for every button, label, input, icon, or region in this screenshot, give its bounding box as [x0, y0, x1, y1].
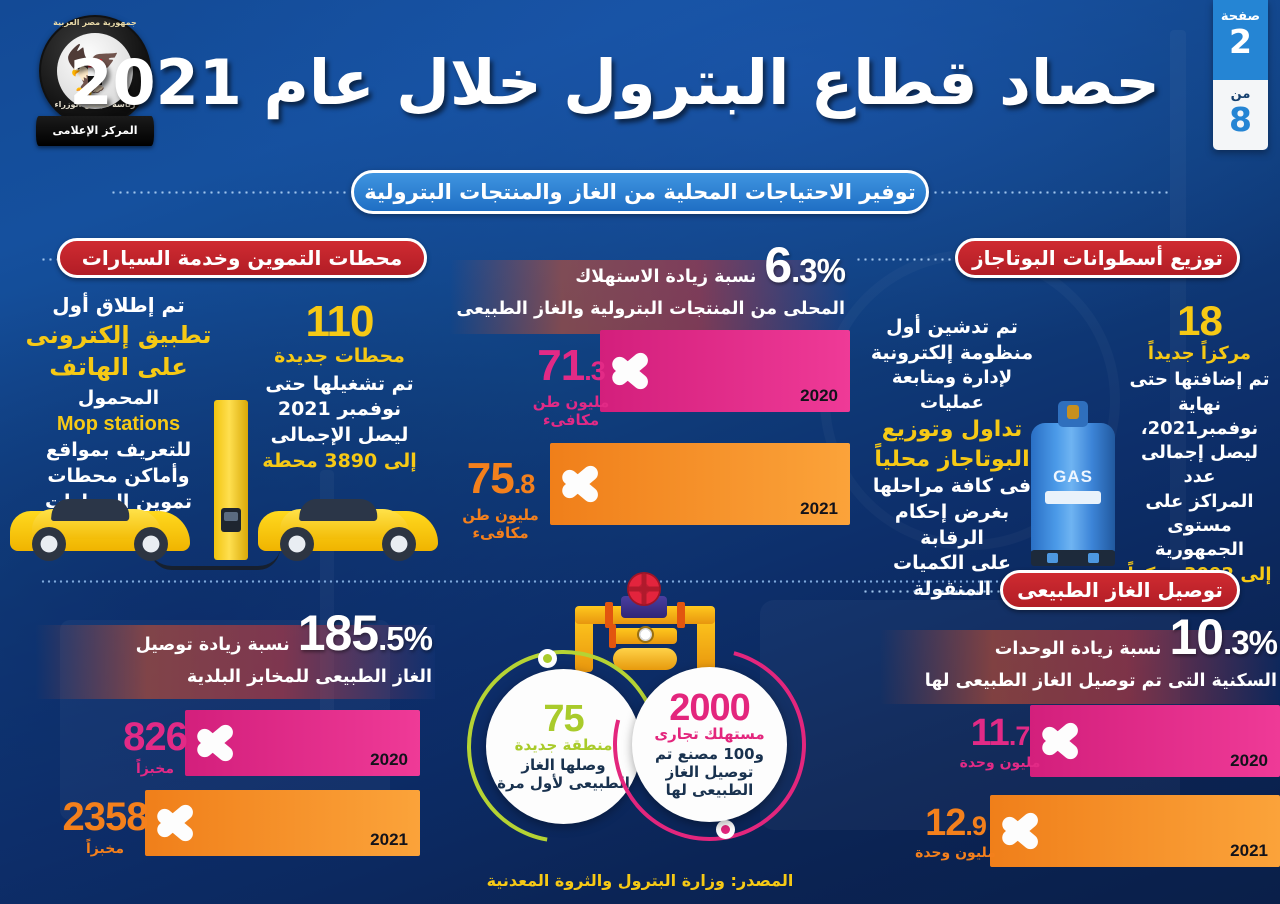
car-icon-left	[10, 495, 190, 561]
cylinder-valve	[1067, 405, 1079, 419]
gas-value-number-2021: 12.9	[903, 805, 1008, 844]
bakeries-bar-year-2021: 2021	[370, 830, 408, 850]
consumption-unit-2020: مليون طن مكافىء	[516, 393, 626, 429]
circle-sub-0: منطقة جديدة	[515, 736, 613, 754]
page-title: حصاد قطاع البترول خلال عام 2021	[180, 48, 1160, 117]
consumption-bar-2020: 2020	[600, 330, 850, 412]
consumption-percent-dec: .3	[791, 252, 817, 289]
infographic-canvas: 🦅 جمهورية مصر العربية رئاسة مجلس الوزراء…	[0, 0, 1280, 904]
bakeries-bar-2020: 2020	[185, 710, 420, 776]
car-window	[51, 499, 131, 521]
circle-desc-1: و100 مصنع تم توصيل الغاز الطبيعى لها	[643, 745, 776, 800]
val-int: 75	[467, 454, 514, 503]
val-int: 12	[925, 802, 965, 844]
circle-number-0: 75	[543, 701, 583, 737]
consumption-percent-sign: %	[817, 252, 845, 289]
gas-text-l2: السكنية التى تم توصيل الغاز الطبيعى لها	[885, 670, 1277, 694]
consumption-value-number-2021: 75.8	[443, 458, 558, 505]
bakeries-value-2021: 2358 مخبزاً	[45, 798, 165, 857]
banner-dots-right	[932, 191, 1170, 194]
butagas-left-l2: منظومة إلكترونية	[862, 341, 1042, 367]
gas-bar-2020: 2020	[1030, 705, 1280, 777]
consumption-percent-int: 6	[764, 237, 791, 293]
source-footer: المصدر: وزارة البترول والثروة المعدنية	[0, 871, 1280, 890]
bakeries-text-l1: نسبة زيادة توصيل	[136, 634, 290, 664]
consumption-bar-year-2020: 2020	[800, 386, 838, 406]
stations-left-l5: Mop stations	[16, 411, 221, 438]
gas-percent-dec: .3	[1223, 624, 1249, 661]
bakeries-value-2020: 826 مخبزاً	[100, 718, 210, 777]
gas-unit-2020: مليون وحدة	[950, 755, 1050, 771]
circle-stat-commercial-consumers: 2000 مستهلك تجارى و100 مصنع تم توصيل الغ…	[632, 667, 787, 822]
val-dec: .3	[584, 356, 605, 386]
butagas-right-l3: ليصل إجمالى عدد	[1122, 441, 1277, 490]
stations-right-l2: نوفمبر 2021	[252, 397, 427, 423]
pump-screen	[221, 508, 241, 532]
consumption-percent: 6.3%	[764, 240, 845, 296]
section-pill-stations: محطات التموين وخدمة السيارات	[57, 238, 427, 278]
page-total: 8	[1213, 102, 1268, 138]
val-dec: .9	[965, 811, 986, 841]
bakeries-bar-year-2020: 2020	[370, 750, 408, 770]
page-badge-top: صفحة 2	[1213, 0, 1268, 80]
bakeries-percent-int: 185	[298, 605, 378, 661]
butagas-right-l2: نهاية نوفمبر2021،	[1122, 393, 1277, 442]
arc-dot-pink	[716, 820, 735, 839]
page-badge: صفحة 2 من 8	[1213, 0, 1268, 150]
stations-right-l3: ليصل الإجمالى	[252, 423, 427, 449]
header: 🦅 جمهورية مصر العربية رئاسة مجلس الوزراء…	[0, 0, 1280, 165]
gas-pipe-icon	[565, 586, 725, 678]
banner-dots-left	[110, 191, 348, 194]
val-dec: .8	[514, 469, 535, 499]
val-dec: .7	[1009, 721, 1030, 751]
gas-bar-year-2021: 2021	[1230, 841, 1268, 861]
consumption-bar-year-2021: 2021	[800, 499, 838, 519]
stations-left-l7: وأماكن محطات	[16, 464, 221, 490]
stations-count-number: 110	[252, 300, 427, 344]
stations-left-l1: تم إطلاق أول	[16, 292, 221, 319]
butagas-left-text: تم تدشين أول منظومة إلكترونية لإدارة ومت…	[862, 315, 1042, 602]
gas-value-number-2020: 11.7	[950, 715, 1050, 754]
subtitle-banner: توفير الاحتياجات المحلية من الغاز والمنت…	[351, 170, 929, 214]
page-number: 2	[1213, 24, 1268, 60]
cylinder-label: GAS	[1031, 467, 1115, 487]
circle-sub-1: مستهلك تجارى	[654, 725, 764, 743]
car-icon-right	[258, 495, 438, 561]
arc-dot-green	[538, 649, 557, 668]
section-pill-butagas: توزيع أسطوانات البوتاجاز	[955, 238, 1240, 278]
arc-dot-core	[721, 825, 730, 834]
val-int: 826	[123, 715, 187, 759]
consumption-headline: 6.3% نسبة زيادة الاستهلاك المحلى من المن…	[455, 240, 845, 322]
emblem-arc-top: جمهورية مصر العربية	[30, 18, 160, 27]
gas-unit-2021: مليون وحدة	[903, 845, 1008, 861]
gas-bar-year-2020: 2020	[1230, 751, 1268, 771]
cylinder-base	[1031, 550, 1115, 566]
butagas-left-l5: البوتاجاز محلياً	[862, 445, 1042, 475]
stations-left-l3: على الهاتف	[16, 351, 221, 383]
gas-pill-dots	[862, 590, 1010, 593]
bakeries-percent-dec: .5	[378, 620, 404, 657]
gas-headline: 10.3% نسبة زيادة الوحدات السكنية التى تم…	[885, 612, 1277, 694]
car-wheel	[32, 527, 66, 561]
stations-left-l2: تطبيق إلكترونى	[16, 319, 221, 351]
consumption-value-2021: 75.8 مليون طن مكافىء	[443, 458, 558, 542]
butagas-left-l6: فى كافة مراحلها	[862, 474, 1042, 500]
pipe-drum	[613, 648, 677, 670]
butagas-left-l4: تداول وتوزيع	[862, 415, 1042, 445]
bakeries-unit-2020: مخبزاً	[100, 761, 210, 777]
stations-right-l1: تم تشغيلها حتى	[252, 372, 427, 398]
stations-left-l4: المحمول	[16, 386, 221, 412]
bakeries-headline: 185.5% نسبة زيادة توصيل الغاز الطبيعى لل…	[40, 608, 432, 690]
circle-stat-new-areas: 75 منطقة جديدة وصلها الغاز الطبيعى لأول …	[486, 669, 641, 824]
butagas-count-unit: مركزاً جديداً	[1122, 342, 1277, 366]
consumption-value-number-2020: 71.3	[516, 345, 626, 392]
emblem-banner-label: المركز الإعلامى	[36, 116, 154, 146]
val-int: 71	[537, 341, 584, 390]
butagas-right-l1: تم إضافتها حتى	[1122, 368, 1277, 392]
circle-number-1: 2000	[669, 690, 750, 726]
stations-left-text: تم إطلاق أول تطبيق إلكترونى على الهاتف ا…	[16, 292, 221, 515]
consumption-text-l2: المحلى من المنتجات البترولية والغاز الطب…	[455, 298, 845, 322]
pipe-flange	[677, 602, 685, 628]
stations-right-l4: إلى 3890 محطة	[252, 449, 427, 475]
pressure-gauge-icon	[637, 626, 654, 643]
pipe-flange	[609, 624, 616, 648]
car-wheel	[134, 527, 168, 561]
car-wheel	[280, 527, 314, 561]
bakeries-value-number-2020: 826	[100, 718, 210, 760]
gas-text-l1: نسبة زيادة الوحدات	[995, 638, 1162, 668]
consumption-unit-2021: مليون طن مكافىء	[443, 506, 558, 542]
cylinder-band	[1045, 491, 1101, 504]
butagas-left-l3: لإدارة ومتابعة عمليات	[862, 366, 1042, 415]
pump-body	[214, 400, 248, 560]
bakeries-percent: 185.5%	[298, 608, 432, 664]
gas-bar-2021: 2021	[990, 795, 1280, 867]
butagas-left-l1: تم تدشين أول	[862, 315, 1042, 341]
bakeries-percent-sign: %	[404, 620, 432, 657]
val-int: 2358	[63, 795, 148, 839]
arc-dot-core	[543, 654, 552, 663]
gas-value-2020: 11.7 مليون وحدة	[950, 715, 1050, 771]
page-badge-bottom: من 8	[1213, 80, 1268, 150]
gas-percent-int: 10	[1170, 609, 1224, 665]
car-wheel	[382, 527, 416, 561]
circle-desc-0: وصلها الغاز الطبيعى لأول مرة	[497, 756, 630, 793]
car-window	[299, 499, 379, 521]
butagas-right-l5: مستوى الجمهورية	[1122, 514, 1277, 563]
butagas-left-l7: بغرض إحكام الرقابة	[862, 500, 1042, 551]
gas-percent: 10.3%	[1170, 612, 1278, 668]
bakeries-unit-2021: مخبزاً	[45, 841, 165, 857]
stations-left-l6: للتعريف بمواقع	[16, 438, 221, 464]
butagas-count-number: 18	[1122, 300, 1277, 342]
consumption-bar-2021: 2021	[550, 443, 850, 525]
gas-cylinder-icon: GAS	[1025, 395, 1120, 570]
butagas-right-text: 18 مركزاً جديداً تم إضافتها حتى نهاية نو…	[1122, 300, 1277, 587]
butagas-pill-dots	[855, 258, 965, 261]
stations-right-text: 110 محطات جديدة تم تشغيلها حتى نوفمبر 20…	[252, 300, 427, 474]
val-int: 11	[971, 712, 1009, 754]
gas-percent-sign: %	[1249, 624, 1277, 661]
valve-wheel-icon	[627, 572, 661, 606]
consumption-text-l1: نسبة زيادة الاستهلاك	[575, 266, 756, 296]
gas-value-2021: 12.9 مليون وحدة	[903, 805, 1008, 861]
bakeries-text-l2: الغاز الطبيعى للمخابز البلدية	[40, 666, 432, 690]
butagas-right-l4: المراكز على	[1122, 490, 1277, 514]
consumption-value-2020: 71.3 مليون طن مكافىء	[516, 345, 626, 429]
section-pill-gas-connection: توصيل الغاز الطبيعى	[1000, 570, 1240, 610]
cylinder-tank	[1031, 423, 1115, 555]
fuel-pump-icon	[214, 400, 248, 560]
bakeries-value-number-2021: 2358	[45, 798, 165, 840]
stations-count-unit: محطات جديدة	[252, 344, 427, 370]
bakeries-bar-2021: 2021	[145, 790, 420, 856]
